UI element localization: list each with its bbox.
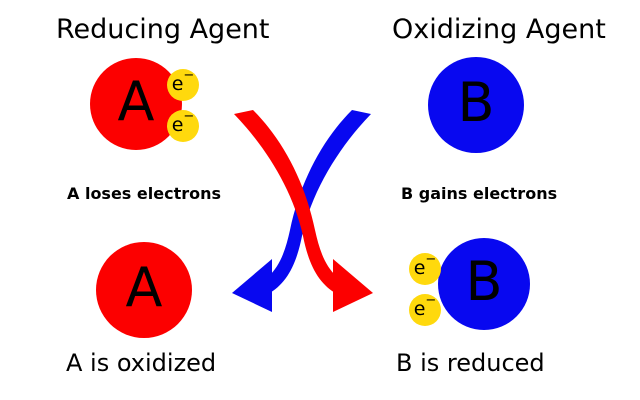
red-arrow-head [333,259,373,312]
transfer-arrows-group [0,0,640,400]
redox-diagram-canvas: Reducing Agent Oxidizing Agent A e− e− B… [0,0,640,400]
blue-arrow-head [232,259,272,312]
